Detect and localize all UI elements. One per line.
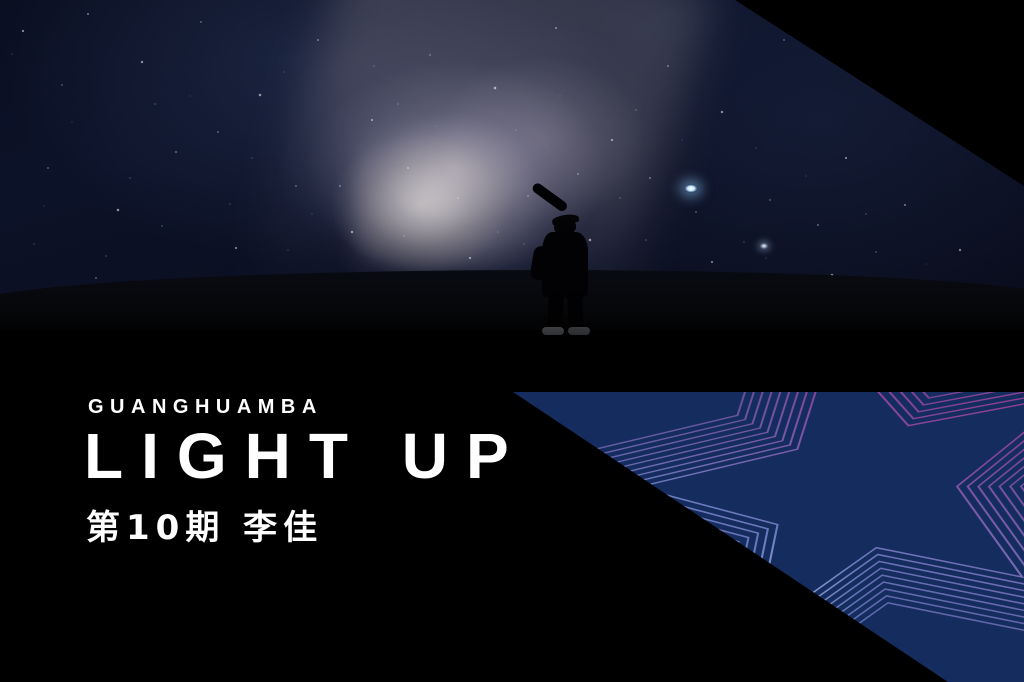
photo-bottom-fade (0, 300, 1024, 390)
bright-star-icon (684, 184, 698, 193)
person-torso (542, 232, 588, 298)
poster-subline: 第10期 李佳 (86, 500, 323, 549)
bright-star-secondary-icon (760, 243, 768, 249)
night-sky-photo (0, 0, 1024, 390)
poster-kicker: GUANGHUAMBA (88, 396, 323, 419)
poster-headline: LIGHT UP (84, 424, 527, 488)
poster-text-block: GUANGHUAMBA LIGHT UP 第10期 李佳 (0, 386, 1024, 682)
poster-canvas: GUANGHUAMBA LIGHT UP 第10期 李佳 (0, 0, 1024, 682)
